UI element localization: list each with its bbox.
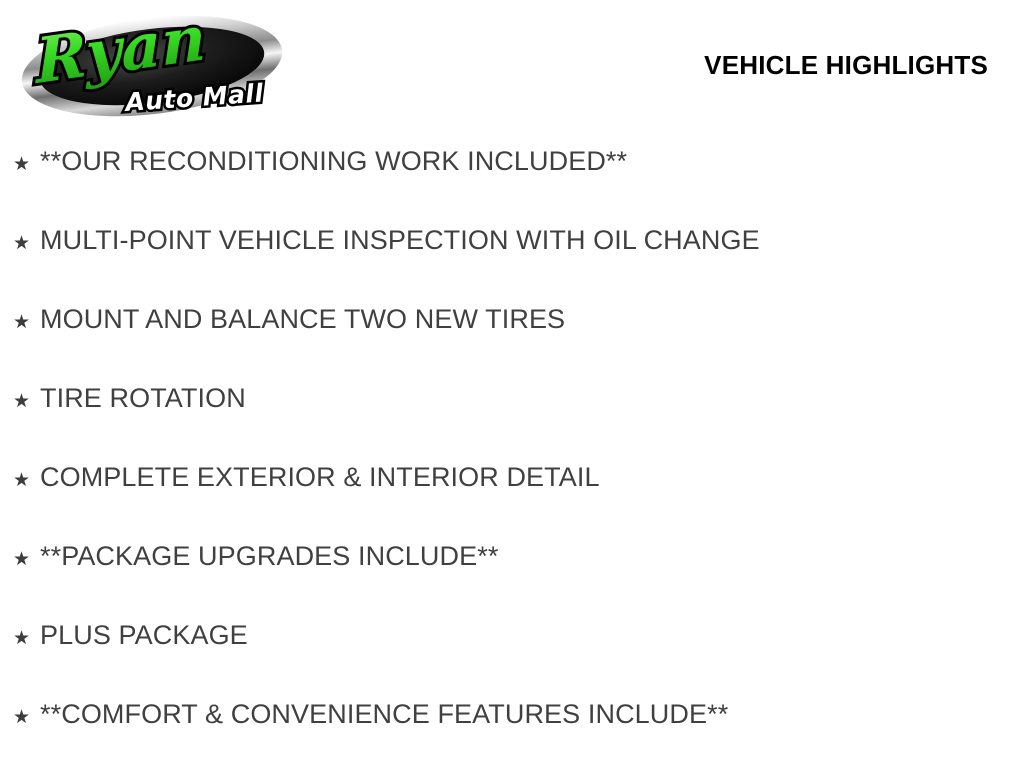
highlight-text: MULTI-POINT VEHICLE INSPECTION WITH OIL … xyxy=(40,227,1024,254)
list-item: ★ TIRE ROTATION xyxy=(0,385,1024,464)
star-icon: ★ xyxy=(13,629,31,648)
highlight-text: **PACKAGE UPGRADES INCLUDE** xyxy=(40,543,1024,570)
list-item: ★ **OUR RECONDITIONING WORK INCLUDED** xyxy=(0,148,1024,227)
star-icon: ★ xyxy=(13,550,31,569)
star-icon: ★ xyxy=(13,708,31,727)
star-icon: ★ xyxy=(13,471,31,490)
list-item: ★ MOUNT AND BALANCE TWO NEW TIRES xyxy=(0,306,1024,385)
star-icon: ★ xyxy=(13,234,31,253)
highlight-text: PLUS PACKAGE xyxy=(40,622,1024,649)
highlight-text: TIRE ROTATION xyxy=(40,385,1024,412)
page-title: VEHICLE HIGHLIGHTS xyxy=(704,50,988,81)
vehicle-highlights-list: ★ **OUR RECONDITIONING WORK INCLUDED** ★… xyxy=(0,148,1024,780)
highlight-text: COMPLETE EXTERIOR & INTERIOR DETAIL xyxy=(40,464,1024,491)
star-icon: ★ xyxy=(13,155,31,174)
list-item: ★ **PACKAGE UPGRADES INCLUDE** xyxy=(0,543,1024,622)
highlight-text: MOUNT AND BALANCE TWO NEW TIRES xyxy=(40,306,1024,333)
star-icon: ★ xyxy=(13,392,31,411)
highlight-text: **COMFORT & CONVENIENCE FEATURES INCLUDE… xyxy=(40,701,1024,728)
list-item: ★ COMPLETE EXTERIOR & INTERIOR DETAIL xyxy=(0,464,1024,543)
ryan-auto-mall-logo[interactable]: Ryan Auto Mall xyxy=(16,10,286,122)
highlight-text: **OUR RECONDITIONING WORK INCLUDED** xyxy=(40,148,1024,175)
list-item: ★ **COMFORT & CONVENIENCE FEATURES INCLU… xyxy=(0,701,1024,780)
list-item: ★ PLUS PACKAGE xyxy=(0,622,1024,701)
star-icon: ★ xyxy=(13,313,31,332)
list-item: ★ MULTI-POINT VEHICLE INSPECTION WITH OI… xyxy=(0,227,1024,306)
page-header: Ryan Auto Mall VEHICLE HIGHLIGHTS xyxy=(0,0,1024,130)
